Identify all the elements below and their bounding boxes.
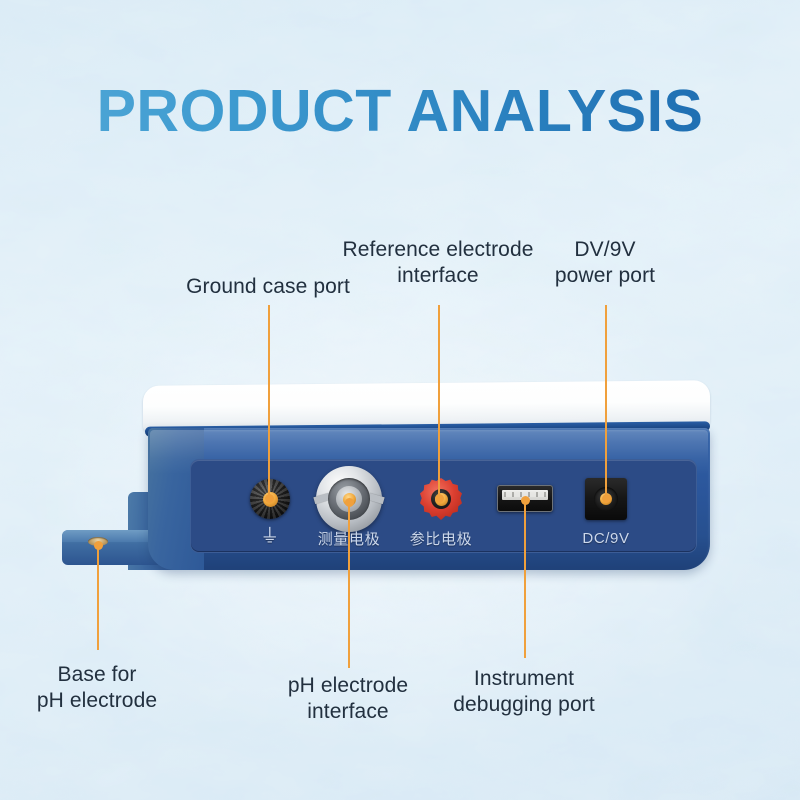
silkscreen-reference-electrode: 参比电极 [391, 528, 491, 549]
callout-dc-power-port: DV/9V power port [510, 237, 700, 288]
silkscreen-ground-symbol: ⏚ [246, 527, 294, 546]
leader-line-ph-electrode-interface [348, 502, 350, 668]
callout-ph-electrode-interface: pH electrode interface [253, 673, 443, 724]
silkscreen-dc-power: DC/9V [566, 530, 646, 547]
callout-base-ph-electrode: Base for pH electrode [7, 662, 187, 713]
infographic-canvas: PRODUCT ANALYSIS [0, 0, 800, 800]
leader-line-reference-electrode [438, 305, 440, 499]
callout-instrument-debug-port: Instrument debugging port [428, 666, 620, 717]
leader-line-base-ph-electrode [97, 545, 99, 650]
leader-line-dc-power-port [605, 305, 607, 499]
leader-line-ground-case-port [268, 305, 270, 499]
leader-line-instrument-debug-port [524, 500, 526, 658]
